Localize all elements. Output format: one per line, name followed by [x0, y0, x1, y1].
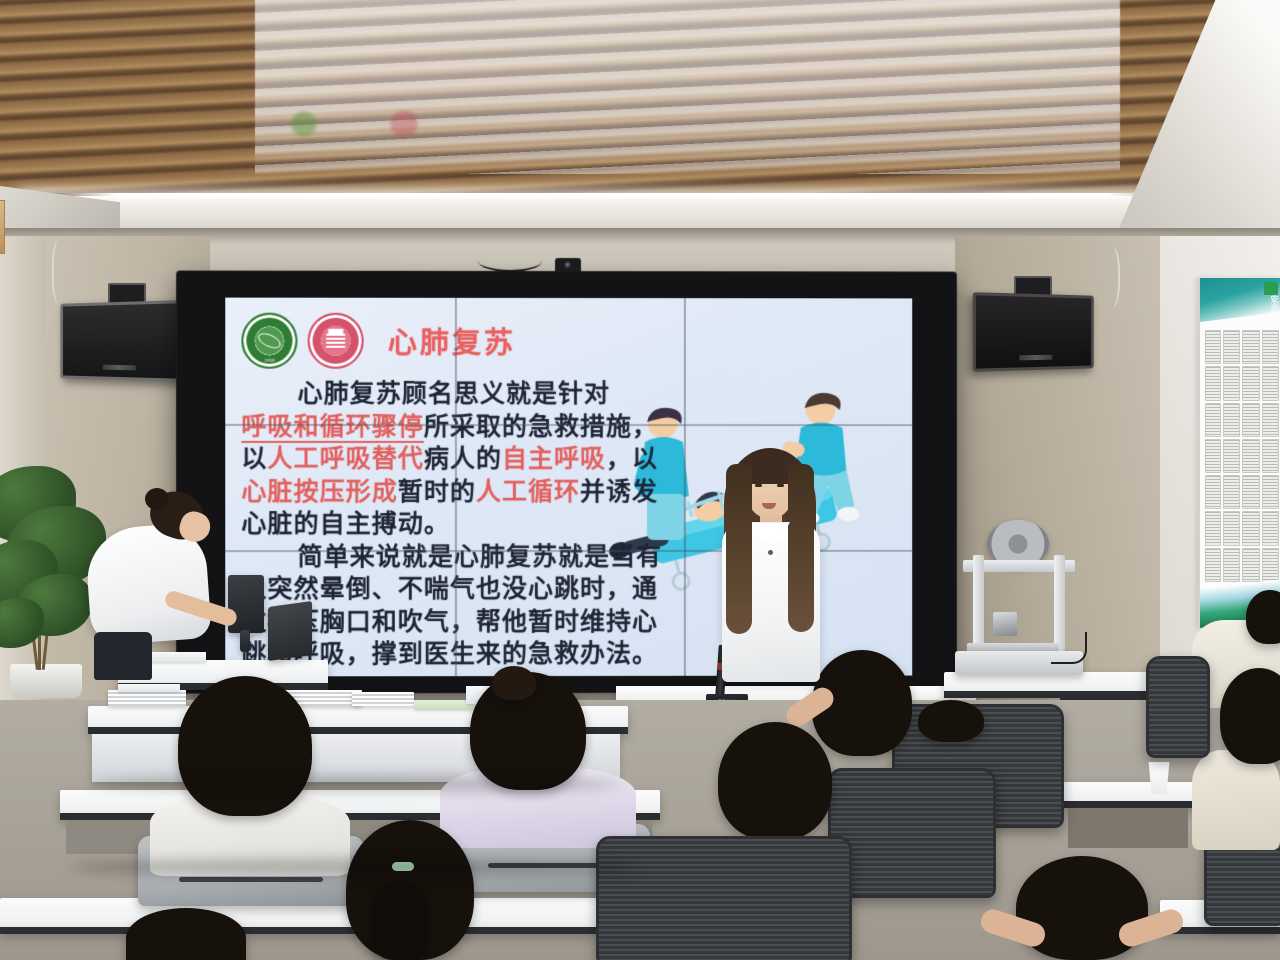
chair-student-g	[828, 768, 996, 898]
slide-text-segment: 心脏的自主搏动。	[241, 510, 450, 538]
board-row-label	[1205, 511, 1221, 545]
slide-text-segment: 以	[241, 445, 267, 473]
printer-cable	[1051, 632, 1087, 664]
board-card	[1223, 439, 1240, 473]
slide-text-segment: 人突然晕倒、不喘气也没心跳时，通	[241, 575, 658, 603]
student-b-ponytail	[492, 666, 536, 700]
chair-front-left	[596, 836, 852, 960]
board-card	[1242, 366, 1259, 400]
board-side-label	[0, 200, 5, 254]
slide-line: 心肺复苏顾名思义就是针对	[241, 378, 896, 411]
printer-post-left	[973, 555, 984, 651]
teacher-at-laptop	[88, 492, 218, 672]
3d-printer	[955, 520, 1083, 675]
student-f-head	[918, 700, 984, 742]
teacher-hair-bun	[145, 488, 169, 510]
wall-info-board: 安全	[1198, 278, 1280, 628]
student-c-ponytail	[372, 880, 428, 960]
board-card	[1242, 403, 1259, 437]
board-card	[1242, 475, 1259, 509]
student-g-head	[718, 722, 832, 840]
board-card	[1262, 366, 1279, 400]
board-card	[1242, 439, 1259, 473]
presenter-shirt-button	[768, 550, 773, 555]
slide-text-segment: ，以	[606, 445, 658, 473]
board-card	[1262, 403, 1279, 437]
chair-right-mid	[1146, 656, 1210, 758]
presenter-eye-right	[777, 484, 784, 487]
student-d-head	[126, 908, 246, 960]
board-card	[1242, 548, 1259, 582]
speaker-left-cable	[52, 240, 68, 304]
exit-sign-icon	[1264, 282, 1278, 295]
university-logo-year: 1958	[264, 358, 274, 363]
panel-seam-horizontal-1	[225, 424, 912, 426]
ceiling-reflected-logos	[286, 108, 506, 150]
board-row-label	[1205, 439, 1221, 473]
presenter-hair-right	[788, 464, 814, 632]
slide-text-segment: 暂时的	[398, 477, 476, 505]
plant-pot	[10, 664, 82, 698]
slide-text-segment: 病人的	[424, 445, 502, 473]
board-card	[1262, 330, 1279, 364]
board-card	[1262, 439, 1279, 473]
slide-text-segment: 简单来说就是心肺复苏就是当有	[298, 542, 662, 570]
panel-seam-vertical-2	[684, 298, 686, 676]
panel-seam-vertical-1	[455, 298, 457, 676]
speaker-right-badge	[1019, 355, 1052, 361]
board-card	[1223, 511, 1240, 545]
student-a-head	[178, 676, 312, 816]
presenter-eye-left	[755, 484, 762, 487]
board-card	[1223, 403, 1240, 437]
camera-cable	[478, 250, 542, 272]
hospital-logo-red-icon	[308, 313, 364, 369]
teacher-legs	[94, 632, 152, 680]
slide-text-segment: 呼吸和循环骤停	[241, 412, 424, 442]
slide-text-segment: 人工循环	[476, 477, 580, 505]
slide-header: 1958 心肺复苏	[241, 312, 896, 371]
chair-slot-a	[179, 877, 324, 882]
board-card-grid	[1205, 330, 1279, 582]
paper-sheet-1	[118, 684, 180, 692]
board-card	[1242, 330, 1259, 364]
slide-text-segment: 并诱发	[580, 478, 658, 506]
desk-row-3-edge	[0, 927, 600, 934]
cove-light-strip	[22, 193, 1202, 198]
student-presenter	[700, 440, 840, 702]
speaker-left-badge	[103, 365, 136, 371]
slide-text-segment: 所采取的急救措施，	[424, 412, 658, 440]
slide-title: 心肺复苏	[388, 320, 516, 362]
classroom-scene: 安全 1958 心肺复苏	[0, 0, 1280, 960]
slide-text-segment: 人工呼吸替代	[267, 445, 423, 473]
shadow-under-desk-2	[70, 858, 640, 876]
printer-extruder-head	[993, 612, 1017, 636]
board-row-label	[1205, 403, 1221, 437]
slide-text-segment: 心肺复苏顾名思义就是针对	[298, 380, 610, 408]
presenter-hair-left	[726, 464, 752, 634]
board-card	[1262, 511, 1279, 545]
board-card	[1262, 548, 1279, 582]
slide-text-segment: 心脏按压形成	[241, 477, 398, 505]
board-row-label	[1205, 366, 1221, 400]
board-row-label	[1205, 330, 1221, 364]
board-card	[1223, 548, 1240, 582]
board-card	[1223, 366, 1240, 400]
wall-speaker-left	[60, 300, 183, 382]
wall-speaker-right	[973, 292, 1094, 372]
conference-camera-icon	[554, 258, 580, 272]
slide-line: 呼吸和循环骤停所采取的急救措施，	[241, 410, 896, 443]
book-stack-right	[352, 692, 414, 706]
adult-j-torso	[1192, 750, 1280, 850]
board-card	[1262, 475, 1279, 509]
speaker-right-cable	[1100, 246, 1120, 308]
board-card	[1242, 511, 1259, 545]
board-row-label	[1205, 548, 1221, 582]
board-card	[1223, 330, 1240, 364]
slide-text-segment: 自主呼吸	[502, 445, 606, 473]
university-logo-green-icon: 1958	[241, 313, 297, 369]
book-stack-left	[108, 690, 186, 706]
desk-monitor	[228, 575, 264, 633]
board-row-label	[1205, 475, 1221, 509]
desk-monitor-stand	[240, 630, 250, 652]
adult-i-head	[1246, 590, 1280, 644]
teacher-laptop	[268, 601, 312, 661]
shadow-under-desk-1	[90, 776, 620, 792]
desk-right-void	[1068, 808, 1188, 848]
board-card	[1223, 475, 1240, 509]
